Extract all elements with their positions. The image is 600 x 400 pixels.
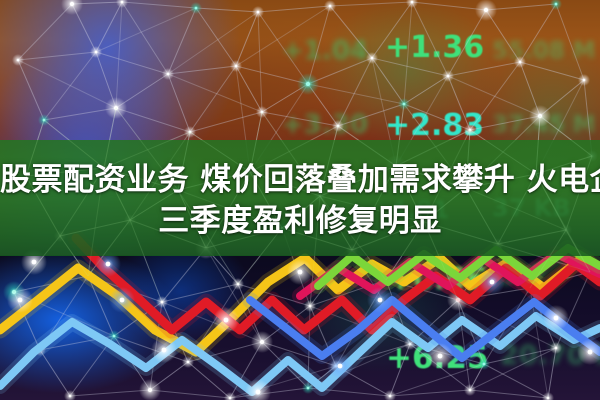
stock-news-banner: +1.04+1.3655.08 M+3.30+2.8337.45 M+0.463… <box>0 0 600 400</box>
headline-line-2: 三季度盈利修复明显 <box>0 201 600 242</box>
headline-line-1: 股票配资业务 煤价回落叠加需求攀升 火电企业前 <box>0 160 600 201</box>
headline-block: 股票配资业务 煤价回落叠加需求攀升 火电企业前 三季度盈利修复明显 <box>0 160 600 242</box>
